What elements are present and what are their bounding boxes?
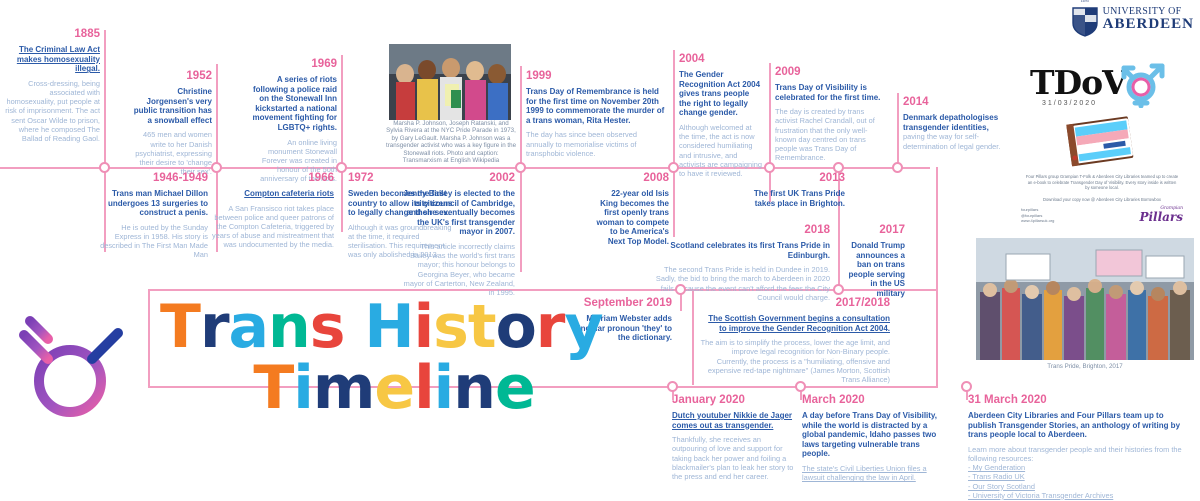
entry-body: The day is created by trans activist Rac… (775, 107, 883, 162)
node-sept2019 (675, 284, 686, 295)
entry-2018: 2018 Scotland celebrates its first Trans… (645, 224, 830, 302)
node-mar2020 (795, 381, 806, 392)
trans-pride-brighton-photo (976, 238, 1194, 360)
entry-2017-2018: 2017/2018 The Scottish Government begins… (700, 297, 890, 384)
entry-january-2020: January 2020 Dutch youtuber Nikkie de Ja… (672, 394, 794, 481)
transgender-symbol-icon (8, 303, 138, 453)
rail-v-2004 (673, 50, 675, 167)
entry-headline: Dutch youtuber Nikkie de Jager comes out… (672, 411, 794, 430)
rail-v-1969 (341, 55, 343, 167)
entry-resource-list: - My Genderation - Trans Radio UK - Our … (968, 463, 1193, 500)
ebook-download-line: Download your copy now @ Aberdeen City L… (1013, 197, 1191, 203)
entry-headline: Scotland celebrates its first Trans Prid… (645, 241, 830, 260)
entry-body: The state's Civil Liberties Union files … (802, 464, 938, 482)
entry-2004: 2004 The Gender Recognition Act 2004 giv… (679, 53, 763, 178)
rail-v-1952 (216, 64, 218, 167)
entry-year: January 2020 (672, 394, 794, 407)
rail-v-looptight (936, 289, 938, 386)
entry-2013: 2013 The first UK Trans Pride takes plac… (735, 172, 845, 213)
node-2009 (764, 162, 775, 173)
node-2013b (833, 162, 844, 173)
ebook-image (1013, 114, 1191, 170)
entry-headline: Trans man Michael Dillon undergoes 13 su… (100, 189, 208, 218)
page-title-line2: Timeline (160, 361, 580, 416)
rail-v-loopleft (148, 289, 150, 386)
tdov-wordmark: TDoV (1030, 66, 1127, 99)
node-1969 (336, 162, 347, 173)
entry-year: 1946-1949 (100, 172, 208, 185)
entry-body: Although welcomed at the time, the act i… (679, 123, 763, 178)
entry-1946-1949: 1946-1949 Trans man Michael Dillon under… (100, 172, 208, 260)
entry-body: A San Fransisco riot takes place between… (212, 204, 334, 250)
entry-year: 31 March 2020 (968, 394, 1193, 407)
node-1885 (99, 162, 110, 173)
entry-headline: The first UK Trans Pride takes place in … (735, 189, 845, 208)
entry-1969: 1969 A series of riots following a polic… (252, 58, 337, 184)
university-wordmark: UNIVERSITY OF ABERDEEN (1103, 7, 1194, 32)
rail-v-1885 (104, 30, 106, 167)
entry-year: 1966 (212, 172, 334, 185)
university-line2: ABERDEEN (1103, 17, 1194, 32)
entry-year: 1952 (130, 70, 212, 83)
node-jan2020 (667, 381, 678, 392)
tdov-logo: TDoV 31/03/2020 (1030, 60, 1190, 115)
entry-headline: Christine Jorgensen's very public transi… (130, 87, 212, 125)
entry-body: He is outed by the Sunday Express in 195… (100, 223, 208, 260)
entry-year: 1999 (526, 70, 666, 83)
node-1999 (515, 162, 526, 173)
entry-headline: The Gender Recognition Act 2004 gives tr… (679, 70, 763, 118)
entry-headline: The Criminal Law Act makes homosexuality… (4, 45, 100, 74)
timeline-poster: 1885 The Criminal Law Act makes homosexu… (0, 0, 1200, 501)
entry-year: 2018 (645, 224, 830, 237)
entry-2014: 2014 Denmark depathologises transgender … (903, 96, 1003, 156)
entry-headline: Jenny Bailey is elected to the city coun… (400, 189, 515, 237)
rail-v-2014 (897, 93, 899, 167)
node-2014 (892, 162, 903, 173)
entry-2009: 2009 Trans Day of Visibility is celebrat… (775, 66, 883, 162)
transgender-stories-ebook-poster: Four Pillars group Grampian T-Folk & Abe… (1013, 112, 1191, 220)
entry-headline: Trans Day of Visibility is celebrated fo… (775, 83, 883, 102)
brighton-photo-caption: Trans Pride, Brighton, 2017 (976, 363, 1194, 370)
entry-2017: 2017 Donald Trump announces a ban on tra… (845, 224, 905, 304)
resource-link[interactable]: - University of Victoria Transgender Arc… (968, 491, 1193, 500)
entry-headline: Aberdeen City Libraries and Four Pillars… (968, 411, 1193, 440)
entry-headline: Trans Day of Remembrance is held for the… (526, 87, 666, 125)
entry-body: The aim is to simplify the process, lowe… (700, 338, 890, 384)
entry-headline: Donald Trump announces a ban on trans pe… (845, 241, 905, 299)
rail-v-2009 (769, 63, 771, 167)
university-line1: UNIVERSITY OF (1103, 7, 1194, 17)
shield-estd-year: 1495 (1072, 0, 1098, 3)
entry-year: 2017 (845, 224, 905, 237)
rail-v-1999 (520, 66, 522, 167)
entry-year: 2014 (903, 96, 1003, 109)
entry-headline: A series of riots following a police rai… (252, 75, 337, 133)
page-title-line1: Trans History (160, 300, 580, 355)
rail-v-right-link (936, 167, 938, 289)
entry-year: 2004 (679, 53, 763, 66)
aberdeen-shield-icon: 1495 (1072, 4, 1098, 34)
entry-year: 2002 (400, 172, 515, 185)
university-of-aberdeen-logo: 1495 UNIVERSITY OF ABERDEEN (1072, 4, 1194, 34)
entry-year: 1885 (4, 28, 100, 41)
entry-1885: 1885 The Criminal Law Act makes homosexu… (4, 28, 100, 143)
stonewall-photo-caption: Marsha P. Johnson, Joseph Ratanski, and … (386, 120, 516, 164)
entry-headline: A day before Trans Day of Visibility, wh… (802, 411, 938, 459)
entry-body: 465 men and women write to her Danish ps… (130, 130, 212, 176)
entry-march-2020: March 2020 A day before Trans Day of Vis… (802, 394, 938, 482)
entry-year: 2017/2018 (700, 297, 890, 310)
rail-v-20172018 (692, 289, 694, 385)
social-link[interactable]: www.4pillarsuk.org (1021, 218, 1054, 223)
entry-headline: The Scottish Government begins a consult… (700, 314, 890, 333)
entry-1999: 1999 Trans Day of Remembrance is held fo… (526, 70, 666, 158)
entry-31-march-2020: 31 March 2020 Aberdeen City Libraries an… (968, 394, 1193, 500)
resource-link[interactable]: - Trans Radio UK (968, 472, 1193, 481)
entry-year: 2013 (735, 172, 845, 185)
entry-1952: 1952 Christine Jorgensen's very public t… (130, 70, 212, 176)
rail-v-1972 (341, 167, 343, 232)
four-pillars-logo: Grampian Pillars (1139, 206, 1183, 223)
tdov-trans-symbol-icon (1117, 56, 1169, 113)
entry-body: This article incorrectly claims Bailey w… (400, 242, 515, 297)
resource-link[interactable]: - My Genderation (968, 463, 1193, 472)
ebook-poster-body: Four Pillars group Grampian T-Folk & Abe… (1013, 174, 1191, 191)
entry-body: Learn more about transgender people and … (968, 445, 1193, 463)
node-2017b (833, 284, 844, 295)
ebook-social-links: fourpillars @fourpillars www.4pillarsuk.… (1021, 207, 1054, 223)
entry-1966: 1966 Compton cafeteria riots A San Frans… (212, 172, 334, 250)
entry-body: Thankfully, she receives an outpouring o… (672, 435, 794, 481)
resource-link[interactable]: - Our Story Scotland (968, 482, 1193, 491)
entry-headline: Compton cafeteria riots (212, 189, 334, 199)
entry-year: 1969 (252, 58, 337, 71)
pillars-wordmark: Pillars (1139, 211, 1183, 223)
entry-2002: 2002 Jenny Bailey is elected to the city… (400, 172, 515, 297)
page-title: Trans History Timeline (160, 300, 580, 416)
node-1952 (211, 162, 222, 173)
entry-year: March 2020 (802, 394, 938, 407)
entry-body: The day has since been observed annually… (526, 130, 666, 158)
entry-headline: Denmark depathologises transgender ident… (903, 113, 1003, 151)
stonewall-pride-photo (389, 44, 511, 120)
node-31mar2020 (961, 381, 972, 392)
entry-year: 2009 (775, 66, 883, 79)
node-2004 (668, 162, 679, 173)
rail-v-2002 (520, 167, 522, 272)
entry-year: 2008 (594, 172, 669, 185)
entry-body: Cross-dressing, being associated with ho… (4, 79, 100, 143)
